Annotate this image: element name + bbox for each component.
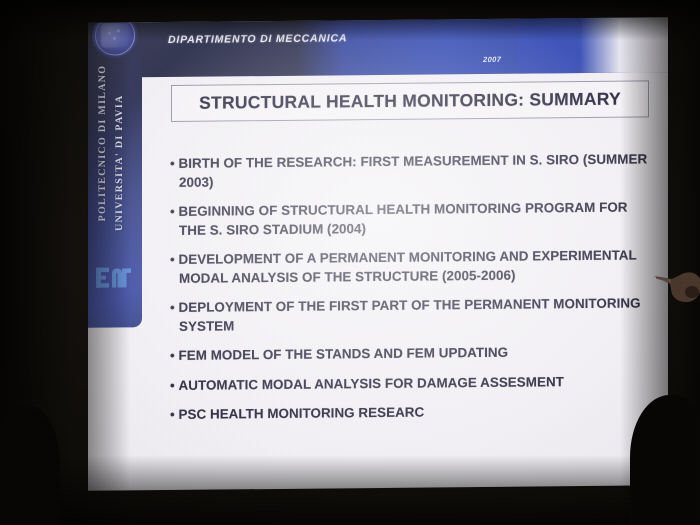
- politecnico-di-milano-seal-icon: [92, 17, 138, 59]
- bullet-item: BIRTH OF THE RESEARCH: FIRST MEASUREMENT…: [170, 150, 652, 192]
- audience-head-silhouette: [630, 395, 700, 525]
- audience-head-silhouette: [0, 405, 60, 525]
- projected-slide: DIPARTIMENTO DI MECCANICA 2007 POLITECNI…: [88, 17, 668, 491]
- bullet-item: BEGINNING OF STRUCTURAL HEALTH MONITORIN…: [170, 198, 652, 240]
- institution-name-politecnico: POLITECNICO DI MILANO: [97, 65, 108, 222]
- institution-name-pavia: UNIVERSITA' DI PAVIA: [114, 94, 125, 231]
- department-label: DIPARTIMENTO DI MECCANICA: [168, 32, 347, 46]
- institution-brand-bar: POLITECNICO DI MILANO UNIVERSITA' DI PAV…: [88, 22, 142, 328]
- seal-crest: [101, 23, 129, 47]
- slide-bullet-list: BIRTH OF THE RESEARCH: FIRST MEASUREMENT…: [170, 150, 652, 435]
- slide-header-white-area: [580, 17, 668, 73]
- bullet-item: FEM MODEL OF THE STANDS AND FEM UPDATING: [170, 342, 652, 365]
- year-label: 2007: [483, 55, 501, 64]
- slide-title-box: STRUCTURAL HEALTH MONITORING: SUMMARY: [171, 80, 649, 122]
- slide-title: STRUCTURAL HEALTH MONITORING: SUMMARY: [199, 89, 621, 114]
- bullet-item: DEVELOPMENT OF A PERMANENT MONITORING AN…: [170, 246, 652, 288]
- en-monogram-logo-icon: [94, 262, 134, 292]
- projection-room-scene: DIPARTIMENTO DI MECCANICA 2007 POLITECNI…: [0, 0, 700, 525]
- bullet-item: DEPLOYMENT OF THE FIRST PART OF THE PERM…: [170, 294, 652, 336]
- bullet-item: PSC HEALTH MONITORING RESEARC: [170, 401, 652, 424]
- bullet-item: AUTOMATIC MODAL ANALYSIS FOR DAMAGE ASSE…: [170, 372, 652, 395]
